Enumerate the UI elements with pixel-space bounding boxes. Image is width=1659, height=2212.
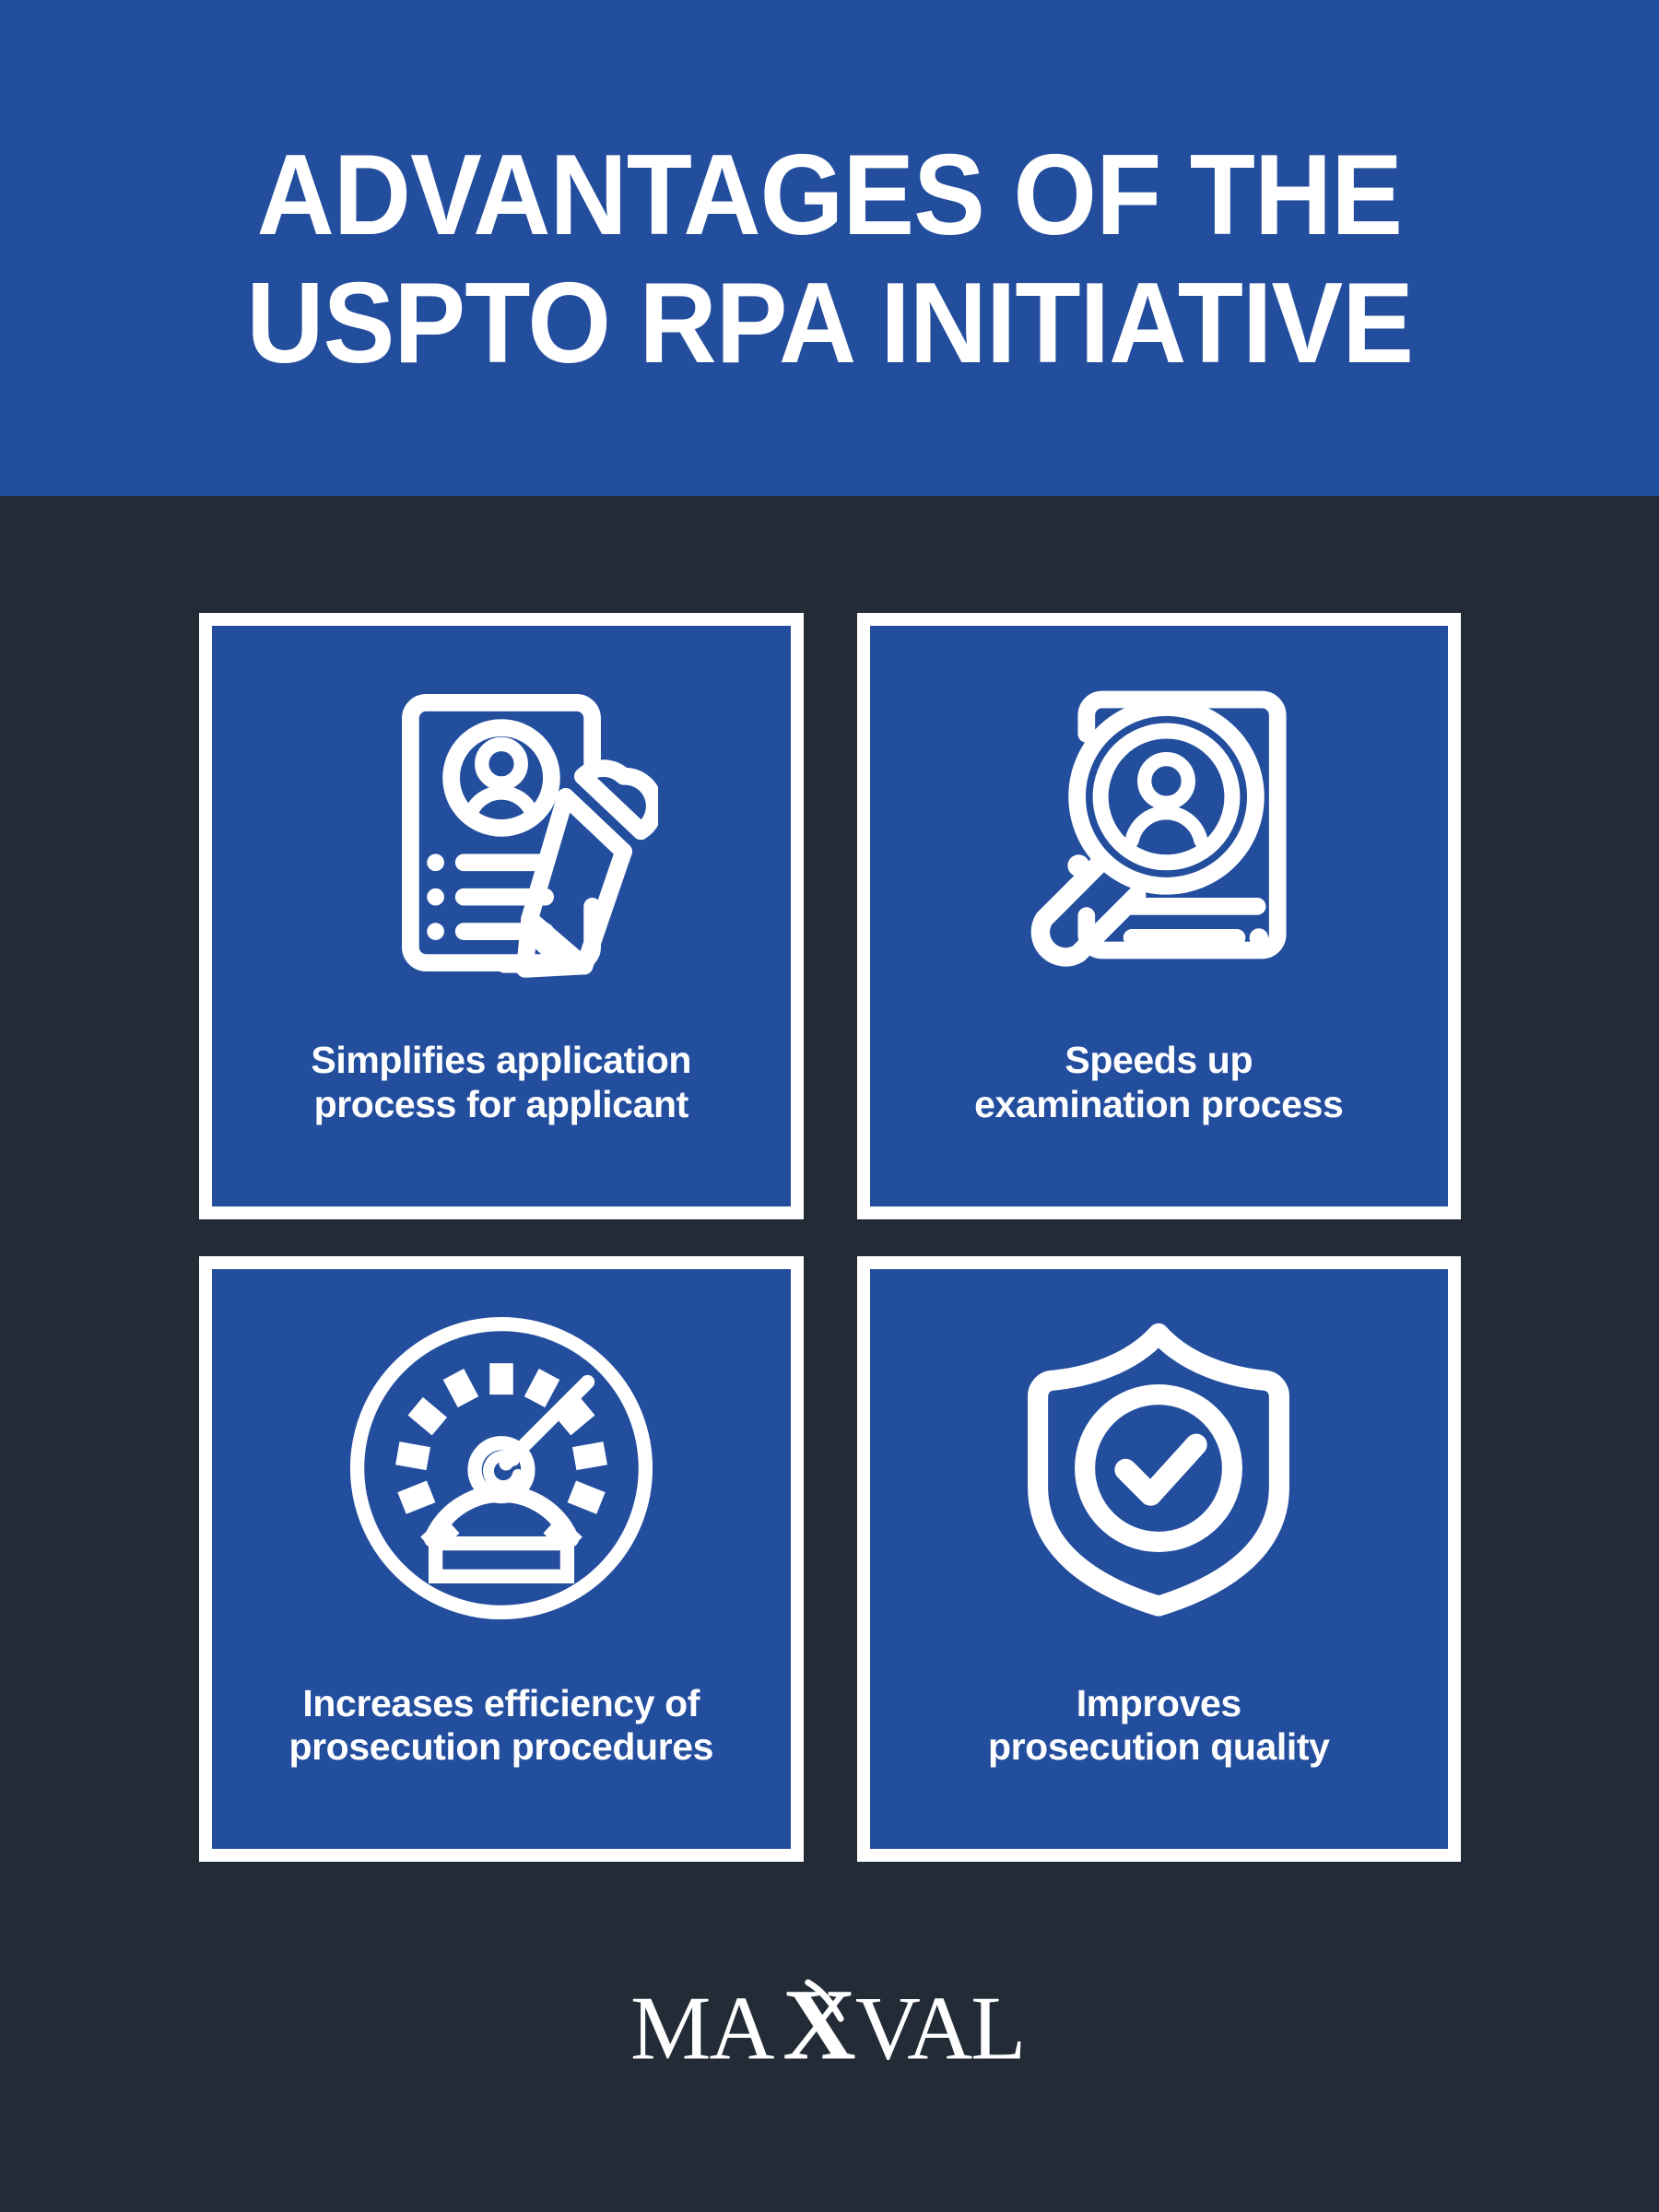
shield-check-icon xyxy=(1002,1312,1315,1625)
maxval-logo-wordmark-right: VAL xyxy=(855,1979,1025,2079)
maxval-logo-wordmark-left: MA xyxy=(630,1979,774,2079)
page-title-line-1: ADVANTAGES OF THE xyxy=(257,132,1402,260)
card-simplifies-application[interactable]: Simplifies application process for appli… xyxy=(199,613,804,1219)
maxval-logo-accent-x: X xyxy=(782,1979,856,2081)
card-label-speeds-examination: Speeds up examination process xyxy=(959,1039,1358,1126)
card-label-simplifies-application: Simplifies application process for appli… xyxy=(296,1039,706,1126)
page-title-line-2: USPTO RPA INITIATIVE xyxy=(246,260,1413,388)
card-label-improves-quality: Improves prosecution quality xyxy=(973,1682,1345,1770)
maxval-logo: MA X VAL xyxy=(630,1979,1030,2088)
document-magnifier-person-icon xyxy=(1002,668,1315,982)
document-person-pencil-icon xyxy=(345,668,658,982)
brand-logo: MA X VAL xyxy=(0,1979,1659,2088)
card-improves-quality[interactable]: Improves prosecution quality xyxy=(857,1256,1462,1863)
advantages-card-grid: Simplifies application process for appli… xyxy=(199,613,1461,1862)
infographic-poster: ADVANTAGES OF THE USPTO RPA INITIATIVE xyxy=(0,0,1659,2212)
header-banner: ADVANTAGES OF THE USPTO RPA INITIATIVE xyxy=(0,0,1659,496)
card-speeds-examination[interactable]: Speeds up examination process xyxy=(857,613,1462,1219)
speedometer-gauge-icon xyxy=(345,1312,658,1625)
card-increases-efficiency[interactable]: Increases efficiency of prosecution proc… xyxy=(199,1256,804,1863)
card-label-increases-efficiency: Increases efficiency of prosecution proc… xyxy=(274,1682,728,1770)
